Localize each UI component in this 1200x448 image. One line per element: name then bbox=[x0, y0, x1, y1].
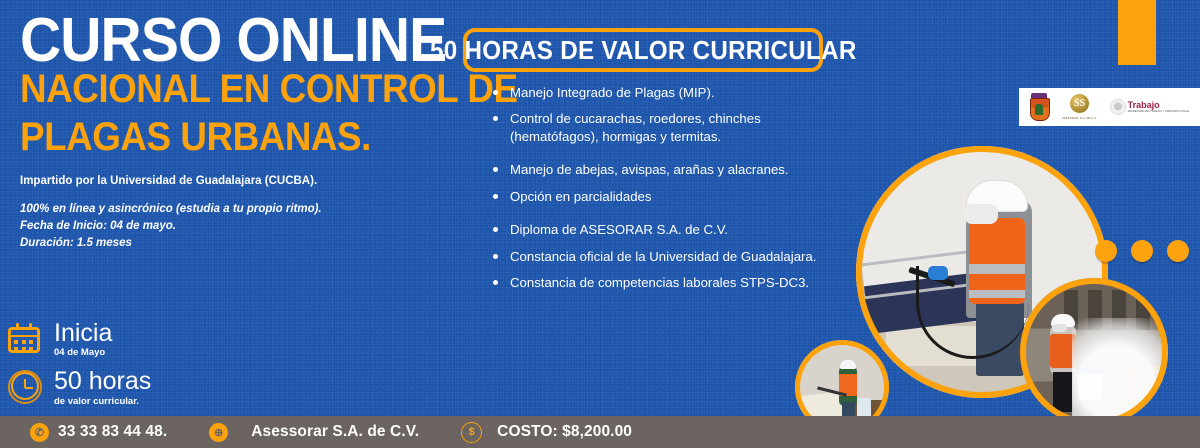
contact-cost-label: COSTO: $8,200.00 bbox=[497, 423, 632, 441]
asesorar-logo-caption: ASESORAR, S.A. DE C.V. bbox=[1062, 117, 1097, 120]
logos-strip: SS ASESORAR, S.A. DE C.V. Trabajo SECRET… bbox=[1019, 88, 1200, 126]
detail-start-date: Fecha de Inicio: 04 de mayo. bbox=[20, 218, 440, 235]
trabajo-logo-caption: SECRETARÍA DEL TRABAJO Y PREVISIÓN SOCIA… bbox=[1128, 111, 1190, 114]
subtitle-impartido: Impartido por la Universidad de Guadalaj… bbox=[20, 175, 440, 187]
list-item: Manejo Integrado de Plagas (MIP). bbox=[488, 84, 818, 101]
list-item: Constancia de competencias laborales STP… bbox=[488, 274, 818, 291]
list-item: Opción en parcialidades bbox=[488, 188, 818, 205]
list-item: Manejo de abejas, avispas, arañas y alac… bbox=[488, 161, 818, 178]
left-column: CURSO ONLINE NACIONAL EN CONTROL DE PLAG… bbox=[20, 14, 440, 251]
dot-2 bbox=[1131, 240, 1153, 262]
contact-company[interactable]: ⊕ Asessorar S.A. de C.V. bbox=[209, 423, 419, 442]
list-item: Constancia oficial de la Universidad de … bbox=[488, 248, 818, 265]
trabajo-logo: Trabajo SECRETARÍA DEL TRABAJO Y PREVISI… bbox=[1110, 99, 1190, 115]
detail-duration: Duración: 1.5 meses bbox=[20, 235, 440, 252]
decorative-dots bbox=[1095, 240, 1189, 262]
title-line-1: CURSO ONLINE bbox=[20, 14, 406, 67]
info-rows: Inicia 04 de Mayo 50 horas de valor curr… bbox=[8, 320, 151, 417]
globe-icon: ⊕ bbox=[209, 423, 228, 442]
title-line-2: NACIONAL EN CONTROL DE bbox=[20, 69, 406, 109]
info-hours-title: 50 horas bbox=[54, 368, 151, 394]
udg-crest-icon bbox=[1029, 93, 1049, 121]
dot-1 bbox=[1095, 240, 1117, 262]
clock-icon bbox=[8, 370, 42, 404]
contact-phone-label: 33 33 83 44 48. bbox=[58, 423, 167, 441]
contact-cost[interactable]: $ COSTO: $8,200.00 bbox=[461, 422, 632, 443]
dot-3 bbox=[1167, 240, 1189, 262]
info-start-title: Inicia bbox=[54, 320, 112, 346]
orange-accent-block bbox=[1118, 0, 1156, 65]
info-start-subtitle: 04 de Mayo bbox=[54, 347, 112, 358]
hours-badge: 50 HORAS DE VALOR CURRICULAR bbox=[463, 28, 823, 72]
benefits-list: Manejo Integrado de Plagas (MIP). Contro… bbox=[488, 84, 818, 300]
asesorar-seal-icon: SS bbox=[1070, 94, 1089, 113]
asesorar-logo: SS ASESORAR, S.A. DE C.V. bbox=[1062, 94, 1097, 120]
contact-phone[interactable]: ✆ 33 33 83 44 48. bbox=[30, 423, 167, 442]
info-row-start: Inicia 04 de Mayo bbox=[8, 320, 151, 358]
course-details: 100% en línea y asincrónico (estudia a t… bbox=[20, 201, 440, 251]
money-icon: $ bbox=[461, 422, 482, 443]
hours-badge-label: 50 HORAS DE VALOR CURRICULAR bbox=[430, 35, 857, 66]
phone-icon: ✆ bbox=[30, 423, 49, 442]
trabajo-logo-text: Trabajo bbox=[1128, 101, 1190, 110]
title-line-3: PLAGAS URBANAS. bbox=[20, 117, 406, 157]
info-hours-subtitle: de valor curricular. bbox=[54, 396, 151, 407]
contact-company-label: Asessorar S.A. de C.V. bbox=[251, 423, 419, 441]
calendar-icon bbox=[8, 323, 42, 355]
mexico-eagle-icon bbox=[1110, 99, 1126, 115]
udg-logo bbox=[1029, 93, 1049, 121]
contact-bar: ✆ 33 33 83 44 48. ⊕ Asessorar S.A. de C.… bbox=[0, 416, 1200, 448]
detail-modality: 100% en línea y asincrónico (estudia a t… bbox=[20, 201, 440, 218]
list-item: Control de cucarachas, roedores, chinche… bbox=[488, 110, 818, 145]
list-item: Diploma de ASESORAR S.A. de C.V. bbox=[488, 221, 818, 238]
photo-small-right bbox=[1020, 278, 1168, 426]
info-row-hours: 50 horas de valor curricular. bbox=[8, 368, 151, 406]
promo-poster: SS ASESORAR, S.A. DE C.V. Trabajo SECRET… bbox=[0, 0, 1200, 448]
